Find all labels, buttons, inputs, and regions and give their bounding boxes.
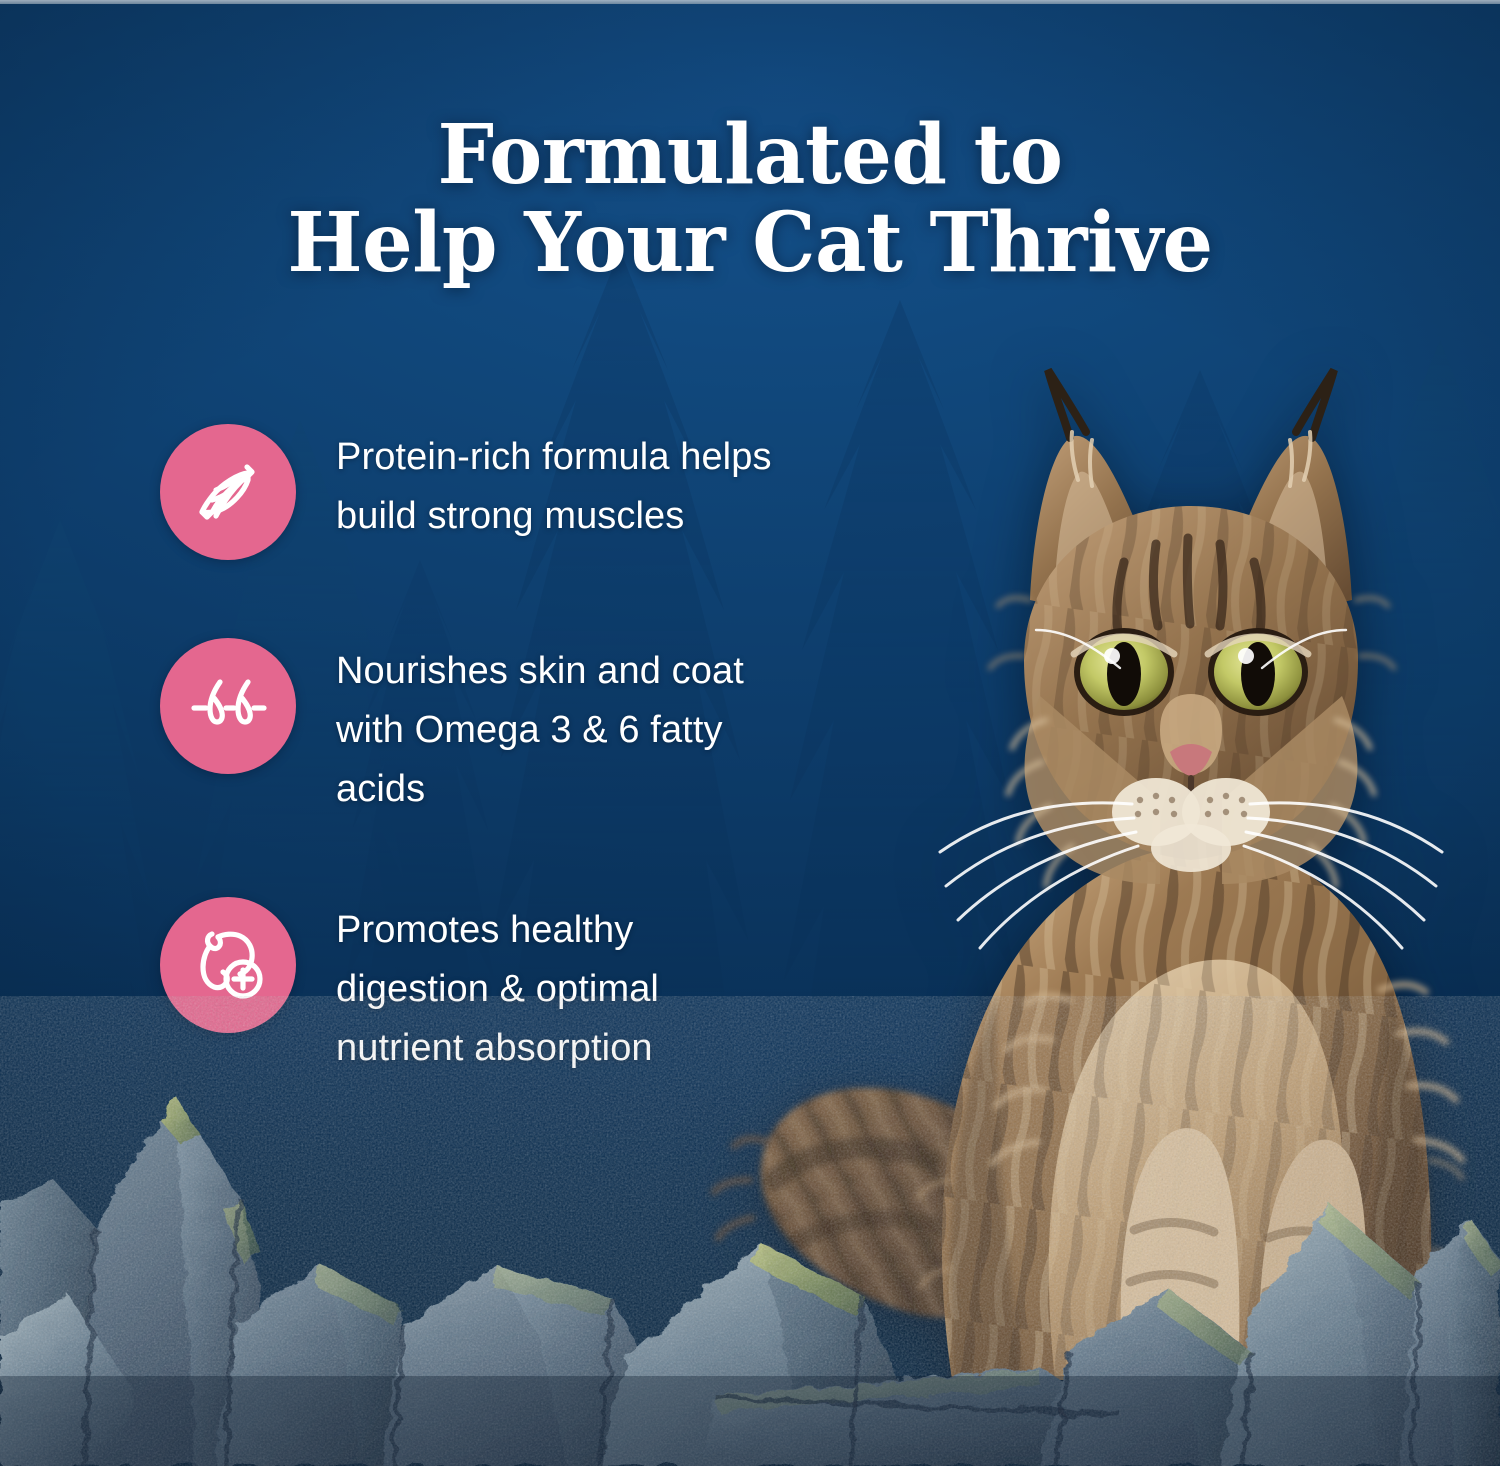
page-title: Formulated to Help Your Cat Thrive bbox=[23, 111, 1478, 288]
rocky-outcrop-foreground bbox=[0, 996, 1500, 1466]
benefits-list: Protein-rich formula helps build strong … bbox=[160, 424, 780, 1078]
hair-follicle-icon-badge bbox=[160, 638, 296, 774]
benefit-text-protein: Protein-rich formula helps build strong … bbox=[336, 424, 780, 546]
muscle-icon bbox=[186, 450, 270, 534]
top-edge-highlight bbox=[0, 0, 1500, 4]
benefit-item-protein: Protein-rich formula helps build strong … bbox=[160, 424, 780, 560]
muscle-icon-badge bbox=[160, 424, 296, 560]
product-feature-banner: Formulated to Help Your Cat Thrive bbox=[0, 0, 1500, 1466]
stomach-plus-icon bbox=[186, 923, 270, 1007]
hair-follicle-icon bbox=[186, 664, 270, 748]
benefit-item-skin-coat: Nourishes skin and coat with Omega 3 & 6… bbox=[160, 638, 780, 819]
title-line-2: Help Your Cat Thrive bbox=[81, 199, 1420, 288]
title-line-1: Formulated to bbox=[438, 107, 1063, 203]
benefit-text-skin-coat: Nourishes skin and coat with Omega 3 & 6… bbox=[336, 638, 780, 819]
